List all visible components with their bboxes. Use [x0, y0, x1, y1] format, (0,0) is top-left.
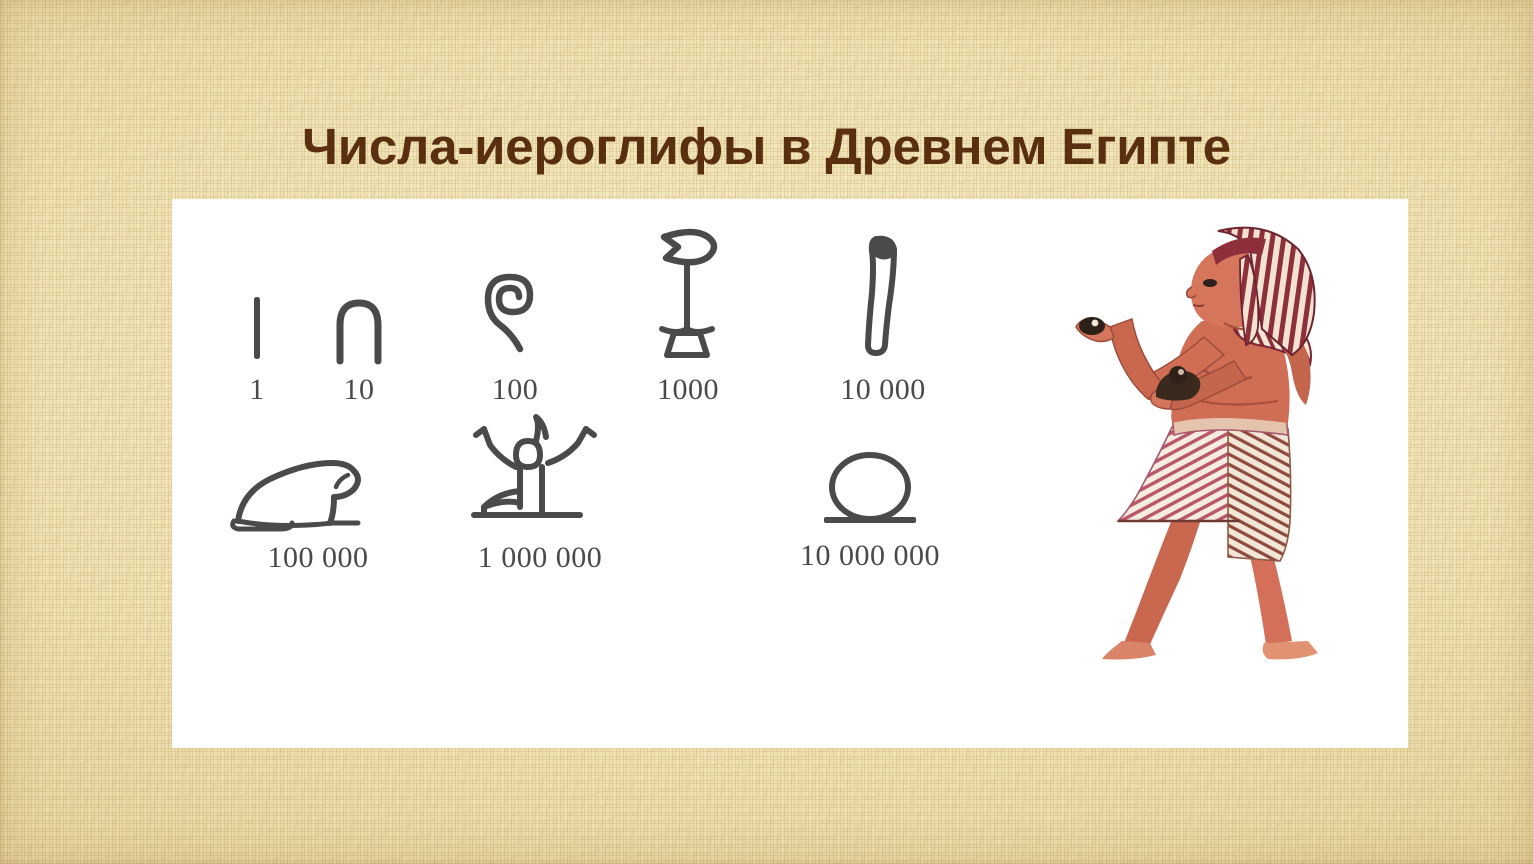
numeral-label: 10 [294, 373, 424, 407]
pointing-finger-glyph [788, 221, 978, 373]
numeral-entry-10000: 10 000 [788, 221, 978, 407]
hieroglyph-table-panel: 1 10 100 [172, 199, 1408, 748]
numeral-entry-10: 10 [294, 287, 424, 407]
numeral-label: 10 000 000 [740, 539, 1000, 573]
numeral-entry-1000000: 1 000 000 [420, 411, 660, 575]
heh-god-glyph [420, 411, 660, 541]
slide-canvas: Числа-иероглифы в Древнем Египте 1 10 [0, 0, 1533, 864]
numeral-label: 1000 [604, 373, 772, 407]
numeral-label: 100 000 [208, 541, 428, 575]
coil-of-rope-glyph [440, 267, 590, 373]
numeral-entry-1000: 1000 [604, 221, 772, 407]
numeral-label: 10 000 [788, 373, 978, 407]
numeral-entry-100000: 100 000 [208, 449, 428, 575]
numeral-entry-100: 100 [440, 267, 590, 407]
egyptian-man-illustration [1052, 209, 1372, 679]
page-title: Числа-иероглифы в Древнем Египте [0, 118, 1533, 176]
rising-sun-glyph [740, 447, 1000, 539]
heel-bone-arch-glyph [294, 287, 424, 373]
tadpole-frog-glyph [208, 449, 428, 541]
numeral-entry-10000000: 10 000 000 [740, 447, 1000, 573]
lotus-flower-glyph [604, 221, 772, 373]
numeral-label: 100 [440, 373, 590, 407]
numeral-label: 1 000 000 [420, 541, 660, 575]
